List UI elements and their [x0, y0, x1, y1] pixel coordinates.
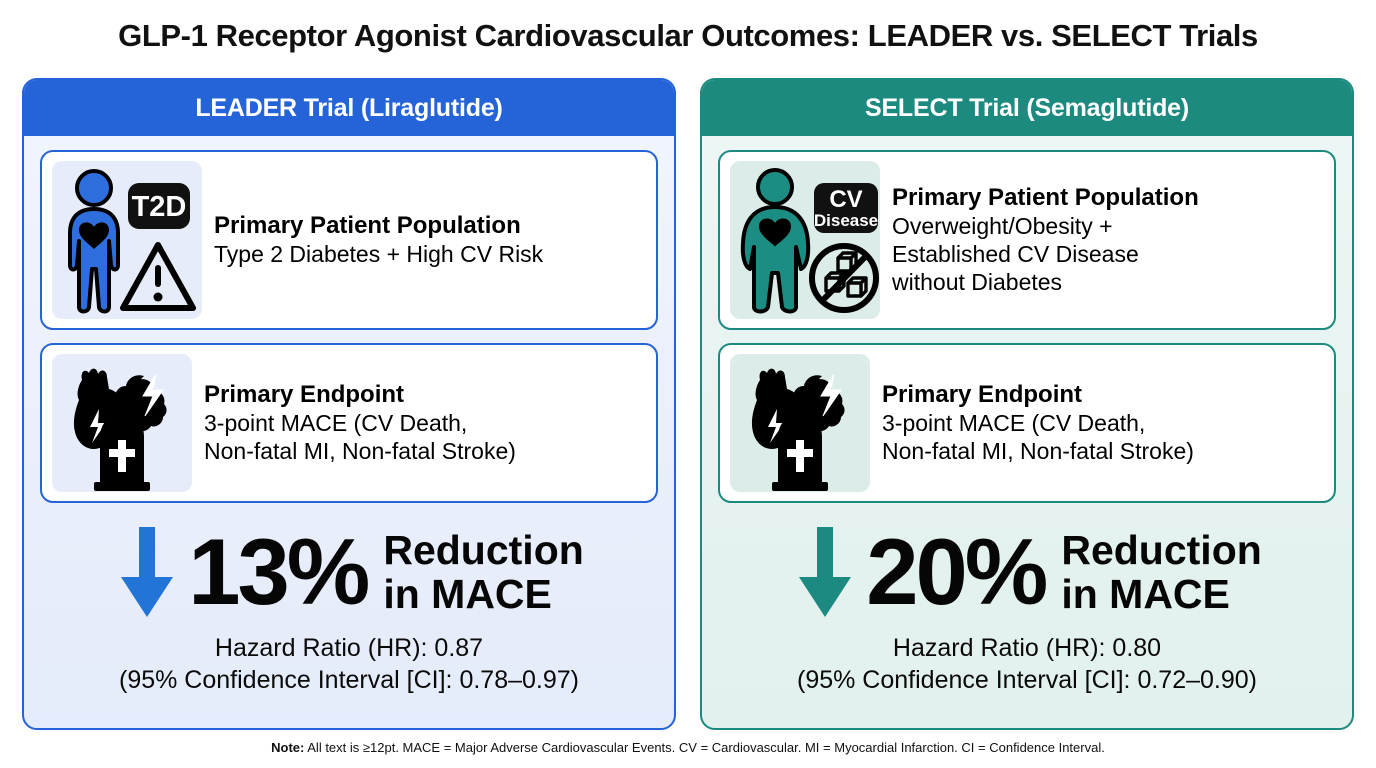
down-arrow-icon — [114, 523, 180, 623]
population-lines-select: Overweight/Obesity + Established CV Dise… — [892, 212, 1324, 296]
percent-value-select: 20% — [866, 529, 1045, 615]
percent-value-leader: 13% — [188, 529, 367, 615]
endpoint-icon-box-select — [730, 354, 870, 492]
endpoint-lines-select: 3-point MACE (CV Death, Non-fatal MI, No… — [882, 409, 1324, 465]
population-icon-box-select: CV Disease — [730, 161, 880, 319]
down-arrow-icon — [792, 523, 858, 623]
population-text-select: Primary Patient Population Overweight/Ob… — [892, 184, 1324, 297]
panels-container: LEADER Trial (Liraglutide) — [22, 78, 1354, 730]
result-top-leader: 13% Reduction in MACE — [114, 523, 584, 623]
endpoint-lines-leader: 3-point MACE (CV Death, Non-fatal MI, No… — [204, 409, 646, 465]
no-sugar-icon — [812, 246, 876, 310]
reduction-line-2: in MACE — [1061, 573, 1261, 617]
endpoint-card-leader: Primary Endpoint 3-point MACE (CV Death,… — [40, 343, 658, 503]
endpoint-icon-box-leader — [52, 354, 192, 492]
endpoint-title-leader: Primary Endpoint — [204, 381, 646, 409]
footnote: Note: All text is ≥12pt. MACE = Major Ad… — [0, 740, 1376, 755]
result-select: 20% Reduction in MACE Hazard Ratio (HR):… — [718, 503, 1336, 718]
population-line: Established CV Disease — [892, 240, 1324, 268]
svg-text:T2D: T2D — [132, 191, 187, 223]
population-title-leader: Primary Patient Population — [214, 212, 646, 240]
panel-header-leader: LEADER Trial (Liraglutide) — [24, 80, 674, 136]
endpoint-line: 3-point MACE (CV Death, — [204, 409, 646, 437]
person-icon — [70, 171, 118, 312]
result-leader: 13% Reduction in MACE Hazard Ratio (HR):… — [40, 503, 658, 718]
population-card-leader: T2D Primary Patient Population Type 2 Di… — [40, 150, 658, 330]
endpoint-text-leader: Primary Endpoint 3-point MACE (CV Death,… — [204, 381, 646, 466]
population-line: Overweight/Obesity + — [892, 212, 1324, 240]
reduction-line-1: Reduction — [383, 529, 583, 573]
endpoint-text-select: Primary Endpoint 3-point MACE (CV Death,… — [882, 381, 1324, 466]
endpoint-line: Non-fatal MI, Non-fatal Stroke) — [882, 437, 1324, 465]
population-lines-leader: Type 2 Diabetes + High CV Risk — [214, 240, 646, 268]
endpoint-line: 3-point MACE (CV Death, — [882, 409, 1324, 437]
population-line: Type 2 Diabetes + High CV Risk — [214, 240, 646, 268]
hazard-ratio-select: Hazard Ratio (HR): 0.80 — [893, 634, 1161, 663]
endpoint-line: Non-fatal MI, Non-fatal Stroke) — [204, 437, 646, 465]
confidence-interval-leader: (95% Confidence Interval [CI]: 0.78–0.97… — [119, 666, 579, 695]
result-top-select: 20% Reduction in MACE — [792, 523, 1262, 623]
cv-disease-badge-icon: CV Disease — [814, 183, 878, 233]
reduction-label-leader: Reduction in MACE — [383, 529, 583, 617]
population-icon-box-leader: T2D — [52, 161, 202, 319]
panel-body-select: CV Disease — [702, 136, 1352, 728]
hazard-ratio-leader: Hazard Ratio (HR): 0.87 — [215, 634, 483, 663]
endpoint-title-select: Primary Endpoint — [882, 381, 1324, 409]
page-title: GLP-1 Receptor Agonist Cardiovascular Ou… — [0, 18, 1376, 54]
reduction-line-2: in MACE — [383, 573, 583, 617]
endpoint-card-select: Primary Endpoint 3-point MACE (CV Death,… — [718, 343, 1336, 503]
panel-body-leader: T2D Primary Patient Population Type 2 Di… — [24, 136, 674, 728]
reduction-label-select: Reduction in MACE — [1061, 529, 1261, 617]
svg-text:CV: CV — [829, 186, 862, 213]
footnote-label: Note: — [271, 740, 304, 755]
population-text-leader: Primary Patient Population Type 2 Diabet… — [214, 212, 646, 269]
warning-triangle-icon — [123, 245, 193, 308]
svg-text:Disease: Disease — [814, 211, 878, 230]
population-title-select: Primary Patient Population — [892, 184, 1324, 212]
footnote-text: All text is ≥12pt. MACE = Major Adverse … — [304, 740, 1104, 755]
panel-header-select: SELECT Trial (Semaglutide) — [702, 80, 1352, 136]
population-card-select: CV Disease — [718, 150, 1336, 330]
confidence-interval-select: (95% Confidence Interval [CI]: 0.72–0.90… — [797, 666, 1257, 695]
panel-leader: LEADER Trial (Liraglutide) — [22, 78, 676, 730]
population-line: without Diabetes — [892, 268, 1324, 296]
panel-select: SELECT Trial (Semaglutide) CV Di — [700, 78, 1354, 730]
person-obese-icon — [743, 170, 808, 312]
reduction-line-1: Reduction — [1061, 529, 1261, 573]
t2d-badge-icon: T2D — [128, 183, 190, 229]
